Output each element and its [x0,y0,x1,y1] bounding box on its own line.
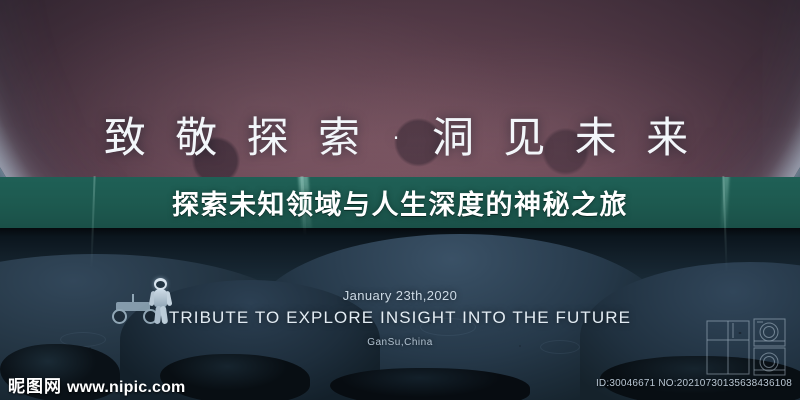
caption-location: GanSu,China [0,337,800,348]
equipment-schematic-icon [706,318,786,376]
headline-banner: 探索未知领域与人生深度的神秘之旅 [0,177,800,228]
banner-light-streak-right [720,177,729,228]
poster-canvas: 致 敬 探 索 · 洞 见 未 来 探索未知领域与人生深度的神秘之旅 [0,0,800,400]
banner-headline-text: 探索未知领域与人生深度的神秘之旅 [172,183,628,222]
watermark-url: www.nipic.com [67,379,185,397]
caption-block: January 23th,2020 TRIBUTE TO EXPLORE INS… [0,288,800,348]
hero-title: 致 敬 探 索 · 洞 见 未 来 [0,110,800,166]
caption-headline: TRIBUTE TO EXPLORE INSIGHT INTO THE FUTU… [0,308,800,328]
astronaut-visor [156,281,165,288]
caption-date: January 23th,2020 [0,288,800,303]
asset-id-text: ID:30046671 NO:20210730135638436108 [596,378,792,389]
equipment-line-art [706,318,786,376]
watermark-cn-name: 昵图网 [8,372,62,397]
site-watermark: 昵图网 www.nipic.com [8,372,185,397]
